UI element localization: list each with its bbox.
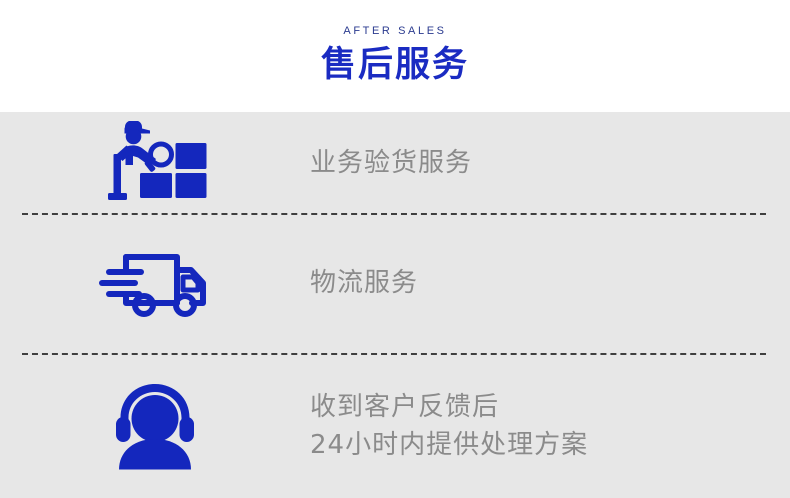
support-icon-cell (0, 381, 310, 471)
service-row-support: 收到客户反馈后 24小时内提供处理方案 (0, 353, 790, 498)
service-label-secondary: 24小时内提供处理方案 (310, 426, 790, 464)
inspection-icon-cell (0, 121, 310, 205)
support-label-cell: 收到客户反馈后 24小时内提供处理方案 (310, 388, 790, 464)
logistics-label-cell: 物流服务 (310, 264, 790, 302)
service-row-inspection: 业务验货服务 (0, 112, 790, 213)
delivery-truck-icon (99, 249, 211, 317)
inspector-boxes-icon (103, 121, 207, 205)
service-row-logistics: 物流服务 (0, 213, 790, 353)
service-label: 收到客户反馈后 (310, 388, 790, 426)
section-eyebrow: AFTER SALES (343, 24, 446, 38)
service-label: 业务验货服务 (310, 144, 790, 182)
logistics-icon-cell (0, 249, 310, 317)
page-title: 售后服务 (321, 44, 469, 86)
headset-support-icon (108, 381, 202, 471)
services-panel: 业务验货服务 (0, 112, 790, 498)
service-label: 物流服务 (310, 264, 790, 302)
row-divider (22, 213, 766, 215)
inspection-label-cell: 业务验货服务 (310, 144, 790, 182)
section-header: AFTER SALES 售后服务 (0, 0, 790, 112)
after-sales-section: AFTER SALES 售后服务 (0, 0, 790, 498)
row-divider (22, 353, 766, 355)
